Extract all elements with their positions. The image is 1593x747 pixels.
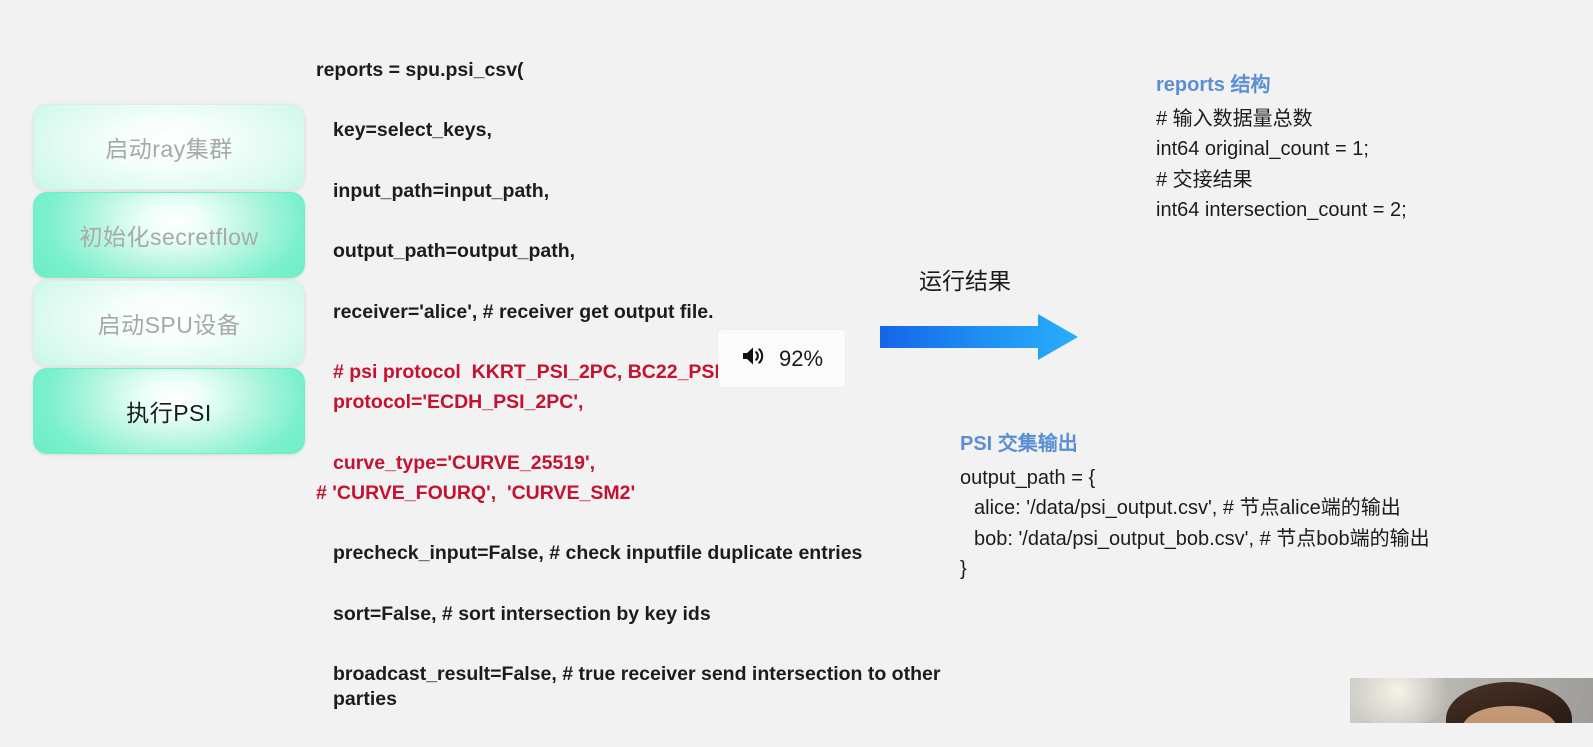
panel-heading: PSI 交集输出 bbox=[960, 427, 1430, 456]
code-line: reports = spu.psi_csv( bbox=[316, 58, 956, 82]
run-result-caption: 运行结果 bbox=[919, 262, 1011, 296]
code-line: key=select_keys, bbox=[316, 118, 956, 142]
volume-osd: 92% bbox=[718, 330, 845, 387]
panel-line: int64 original_count = 1; bbox=[1156, 134, 1407, 164]
sidebar-item-init-secretflow[interactable]: 初始化secretflow bbox=[33, 192, 305, 278]
panel-line: alice: '/data/psi_output.csv', # 节点alice… bbox=[960, 493, 1430, 523]
step-label: 初始化secretflow bbox=[79, 218, 258, 252]
speaker-volume-icon bbox=[740, 344, 766, 373]
volume-percent-label: 92% bbox=[779, 346, 823, 372]
video-light-glow bbox=[1350, 678, 1458, 723]
sidebar-item-start-ray-cluster[interactable]: 启动ray集群 bbox=[33, 104, 305, 190]
psi-output-panel: PSI 交集输出 output_path = { alice: '/data/p… bbox=[960, 427, 1430, 585]
workflow-step-list: 启动ray集群 初始化secretflow 启动SPU设备 执行PSI bbox=[33, 104, 305, 454]
code-line: output_path=output_path, bbox=[316, 239, 956, 263]
reports-structure-panel: reports 结构 # 输入数据量总数 int64 original_coun… bbox=[1156, 68, 1407, 226]
flow-arrow-right-icon bbox=[878, 312, 1080, 362]
presentation-slide: 启动ray集群 初始化secretflow 启动SPU设备 执行PSI repo… bbox=[0, 0, 1593, 723]
step-label: 启动SPU设备 bbox=[98, 306, 241, 340]
presenter-video-thumbnail[interactable] bbox=[1350, 678, 1593, 723]
panel-line: bob: '/data/psi_output_bob.csv', # 节点bob… bbox=[960, 524, 1430, 554]
panel-line: } bbox=[960, 554, 1430, 584]
code-line: input_path=input_path, bbox=[316, 179, 956, 203]
code-line: sort=False, # sort intersection by key i… bbox=[316, 602, 956, 626]
code-line-comment-protocols: # psi protocol KKRT_PSI_2PC, BC22_PSI_2P… bbox=[316, 360, 956, 384]
code-line: broadcast_result=False, # true receiver … bbox=[316, 662, 956, 711]
code-line-comment-curves: # 'CURVE_FOURQ', 'CURVE_SM2' bbox=[316, 481, 956, 505]
panel-line: int64 intersection_count = 2; bbox=[1156, 195, 1407, 225]
panel-line: output_path = { bbox=[960, 463, 1430, 493]
code-line: receiver='alice', # receiver get output … bbox=[316, 300, 956, 324]
sidebar-item-execute-psi[interactable]: 执行PSI bbox=[33, 368, 305, 454]
step-label: 启动ray集群 bbox=[105, 130, 232, 164]
panel-heading: reports 结构 bbox=[1156, 68, 1407, 97]
panel-line: # 交接结果 bbox=[1156, 165, 1407, 195]
code-line-curve-type: curve_type='CURVE_25519', bbox=[316, 451, 956, 475]
code-line-protocol: protocol='ECDH_PSI_2PC', bbox=[316, 390, 956, 414]
panel-line: # 输入数据量总数 bbox=[1156, 104, 1407, 134]
step-label: 执行PSI bbox=[126, 394, 212, 428]
code-listing: reports = spu.psi_csv( key=select_keys, … bbox=[316, 58, 956, 747]
code-line: precheck_input=False, # check inputfile … bbox=[316, 541, 956, 565]
sidebar-item-start-spu-device[interactable]: 启动SPU设备 bbox=[33, 280, 305, 366]
